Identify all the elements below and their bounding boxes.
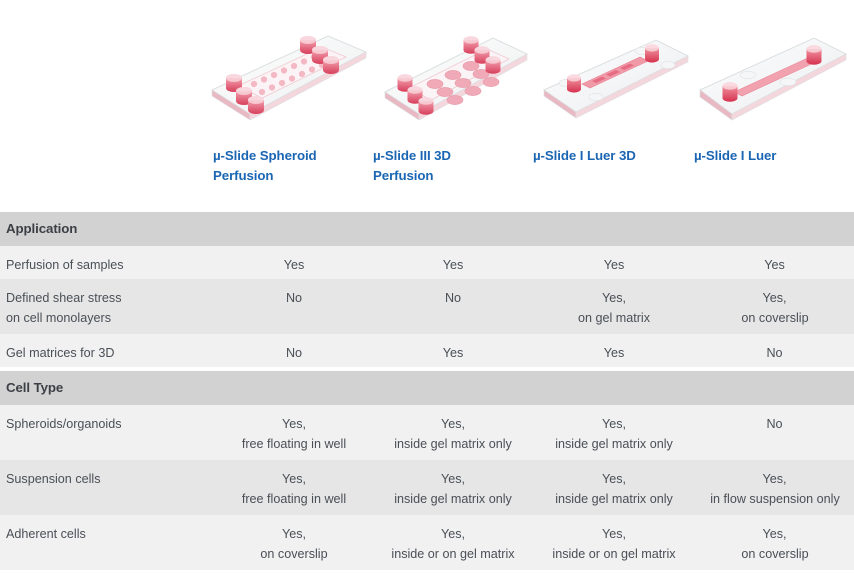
cell-line1: No: [766, 417, 782, 431]
cell-line1: Yes,: [602, 417, 626, 431]
table-row: Suspension cells Yes, free floating in w…: [0, 460, 854, 515]
table-cell: Yes, free floating in well: [214, 414, 374, 454]
table-cell: Yes: [373, 343, 533, 363]
cell-line2: free floating in well: [214, 489, 374, 509]
table-cell: Yes, in flow suspension only: [695, 469, 854, 509]
cell-line1: Yes,: [602, 527, 626, 541]
cell-line1: Yes: [284, 258, 305, 272]
row-label: Perfusion of samples: [6, 255, 124, 275]
table-cell: Yes, inside gel matrix only: [534, 469, 694, 509]
table-cell: Yes, inside or on gel matrix: [534, 524, 694, 564]
cell-line1: Yes,: [441, 417, 465, 431]
cell-line1: Yes: [604, 258, 625, 272]
column-header-line1: µ-Slide III 3D: [373, 148, 451, 163]
table-row: Perfusion of samples Yes Yes Yes Yes: [0, 246, 854, 279]
row-label-line1: Perfusion of samples: [6, 258, 124, 272]
table-cell: Yes: [373, 255, 533, 275]
section-header-application: Application: [0, 212, 854, 246]
cell-line1: Yes,: [602, 472, 626, 486]
cell-line1: Yes,: [441, 527, 465, 541]
column-header-line2: Perfusion: [213, 168, 273, 183]
cell-line1: Yes,: [282, 527, 306, 541]
product-image-spheroid-perfusion[interactable]: [200, 18, 375, 136]
column-header-line1: µ-Slide Spheroid: [213, 148, 317, 163]
table-cell: No: [214, 288, 374, 308]
column-header-iii-3d-perfusion[interactable]: µ-Slide III 3D Perfusion: [373, 146, 523, 186]
section-header-cell-type: Cell Type: [0, 371, 854, 405]
table-cell: Yes, inside gel matrix only: [373, 414, 533, 454]
cell-line1: Yes,: [441, 472, 465, 486]
table-row: Gel matrices for 3D No Yes Yes No: [0, 334, 854, 367]
row-label: Adherent cells: [6, 524, 86, 544]
mu-slide-spheroid-perfusion-photo: [200, 18, 375, 136]
cell-line2: on coverslip: [214, 544, 374, 564]
product-image-i-luer-3d[interactable]: [530, 18, 695, 136]
table-cell: No: [373, 288, 533, 308]
table-cell: Yes, on coverslip: [214, 524, 374, 564]
product-image-row: [0, 0, 854, 140]
cell-line1: Yes,: [602, 291, 626, 305]
table-cell: Yes, on coverslip: [695, 524, 854, 564]
table-cell: Yes, free floating in well: [214, 469, 374, 509]
table-cell: Yes: [534, 343, 694, 363]
cell-line1: Yes: [604, 346, 625, 360]
row-label: Defined shear stress on cell monolayers: [6, 288, 122, 328]
cell-line1: No: [286, 291, 302, 305]
table-cell: No: [695, 343, 854, 363]
cell-line1: Yes,: [762, 527, 786, 541]
column-header-spheroid-perfusion[interactable]: µ-Slide Spheroid Perfusion: [213, 146, 363, 186]
cell-line1: No: [286, 346, 302, 360]
table-row: Adherent cells Yes, on coverslip Yes, in…: [0, 515, 854, 570]
cell-line2: inside gel matrix only: [373, 434, 533, 454]
cell-line2: inside or on gel matrix: [534, 544, 694, 564]
column-header-i-luer[interactable]: µ-Slide I Luer: [694, 146, 854, 166]
cell-line2: inside gel matrix only: [534, 489, 694, 509]
column-header-i-luer-3d[interactable]: µ-Slide I Luer 3D: [533, 146, 693, 166]
cell-line1: Yes,: [762, 472, 786, 486]
column-header-line1: µ-Slide I Luer: [694, 148, 776, 163]
table-row: Spheroids/organoids Yes, free floating i…: [0, 405, 854, 460]
table-row: Defined shear stress on cell monolayers …: [0, 279, 854, 334]
table-cell: Yes: [695, 255, 854, 275]
table-cell: No: [214, 343, 374, 363]
cell-line2: inside gel matrix only: [373, 489, 533, 509]
column-header-line1: µ-Slide I Luer 3D: [533, 148, 636, 163]
mu-slide-i-luer-3d-photo: [530, 18, 695, 136]
mu-slide-i-luer-photo: [690, 18, 854, 136]
row-label-line1: Spheroids/organoids: [6, 417, 122, 431]
product-image-iii-3d-perfusion[interactable]: [375, 18, 535, 136]
row-label-line2: on cell monolayers: [6, 308, 122, 328]
table-cell: No: [695, 414, 854, 434]
cell-line1: Yes,: [282, 472, 306, 486]
cell-line1: No: [445, 291, 461, 305]
row-label: Suspension cells: [6, 469, 101, 489]
cell-line2: in flow suspension only: [695, 489, 854, 509]
mu-slide-iii-3d-perfusion-photo: [375, 18, 535, 136]
comparison-table: Application Perfusion of samples Yes Yes…: [0, 212, 854, 570]
row-label-line1: Suspension cells: [6, 472, 101, 486]
table-cell: Yes, inside or on gel matrix: [373, 524, 533, 564]
table-cell: Yes, inside gel matrix only: [534, 414, 694, 454]
table-cell: Yes, on gel matrix: [534, 288, 694, 328]
cell-line1: Yes: [443, 258, 464, 272]
row-label: Gel matrices for 3D: [6, 343, 114, 363]
table-cell: Yes: [534, 255, 694, 275]
table-cell: Yes: [214, 255, 374, 275]
column-header-line2: Perfusion: [373, 168, 433, 183]
column-header-row: µ-Slide Spheroid Perfusion µ-Slide III 3…: [0, 146, 854, 206]
table-cell: Yes, on coverslip: [695, 288, 854, 328]
cell-line1: No: [766, 346, 782, 360]
cell-line1: Yes: [764, 258, 785, 272]
cell-line1: Yes,: [282, 417, 306, 431]
cell-line2: on gel matrix: [534, 308, 694, 328]
product-image-i-luer[interactable]: [690, 18, 854, 136]
cell-line1: Yes,: [762, 291, 786, 305]
row-label-line1: Defined shear stress: [6, 291, 122, 305]
table-cell: Yes, inside gel matrix only: [373, 469, 533, 509]
cell-line2: inside or on gel matrix: [373, 544, 533, 564]
cell-line2: on coverslip: [695, 308, 854, 328]
row-label: Spheroids/organoids: [6, 414, 122, 434]
cell-line1: Yes: [443, 346, 464, 360]
row-label-line1: Gel matrices for 3D: [6, 346, 114, 360]
row-label-line1: Adherent cells: [6, 527, 86, 541]
cell-line2: inside gel matrix only: [534, 434, 694, 454]
cell-line2: free floating in well: [214, 434, 374, 454]
cell-line2: on coverslip: [695, 544, 854, 564]
